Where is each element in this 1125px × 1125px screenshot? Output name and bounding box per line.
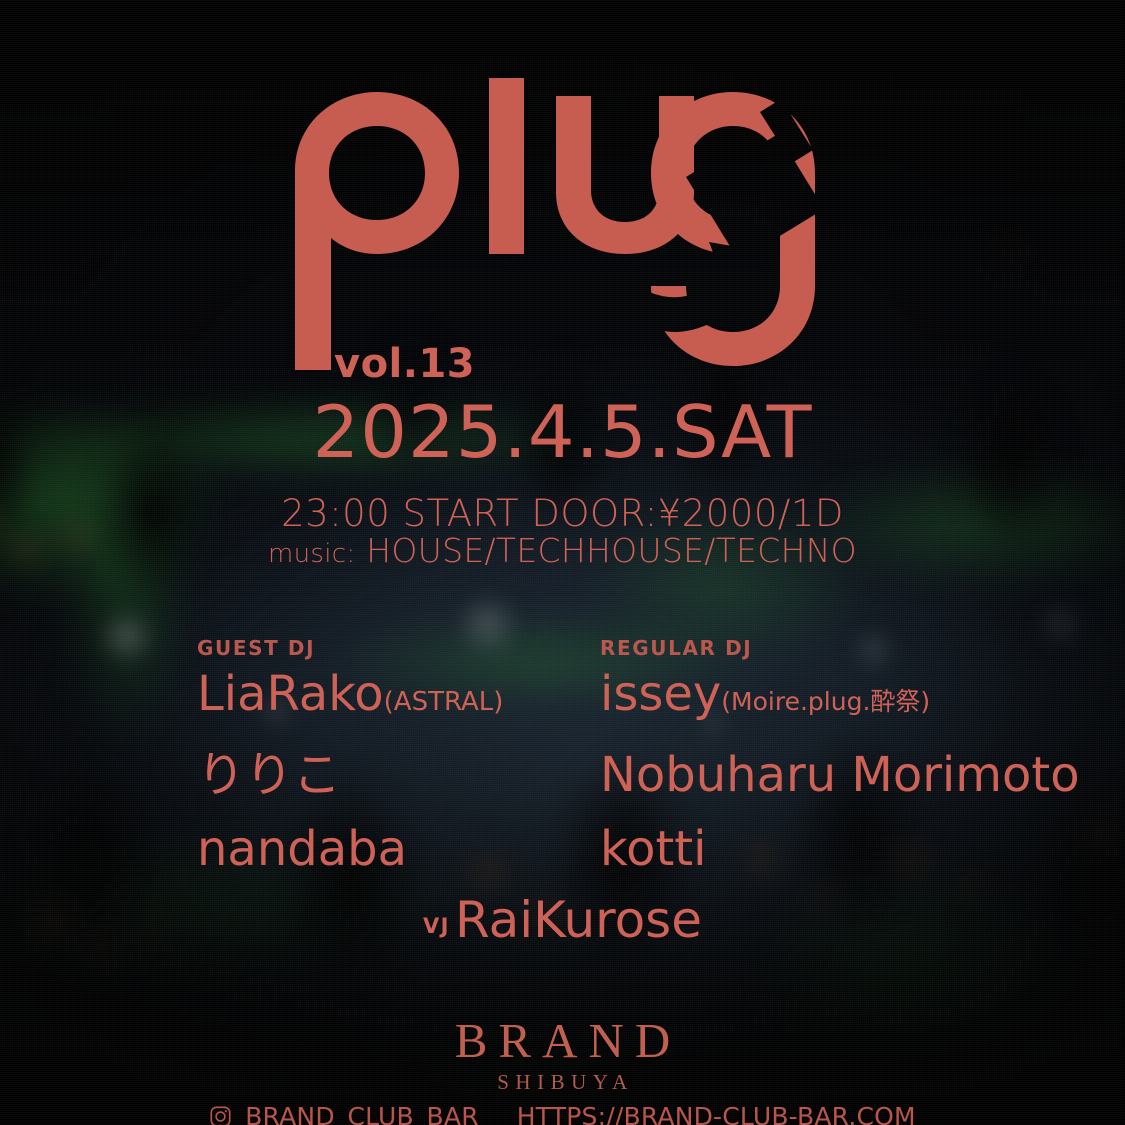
- venue-name: BRAND: [0, 1016, 1125, 1065]
- artist-name: Nobuharu Morimoto: [600, 747, 1080, 803]
- volume-number: vol.13: [334, 341, 475, 387]
- event-flyer: vol.13 2025.4.5.SAT 23:00 START DOOR:¥20…: [0, 0, 1125, 1125]
- list-item: りりこ: [197, 748, 341, 803]
- vj-row: VJ RaiKurose: [0, 895, 1125, 945]
- vj-role-label: VJ: [423, 914, 450, 938]
- artist-name: LiaRako: [197, 666, 384, 722]
- artist-affiliation: (Moire.plug.酔祭): [721, 687, 930, 716]
- list-item: issey(Moire.plug.酔祭): [600, 670, 930, 718]
- venue-footer: BRAND SHIBUYA BRAND_CLUB_BAR HTTPS://BRA…: [0, 1016, 1125, 1125]
- event-date: 2025.4.5.SAT: [0, 396, 1125, 468]
- list-item: LiaRako(ASTRAL): [197, 670, 503, 718]
- artist-name: issey: [600, 666, 721, 722]
- artist-name: nandaba: [197, 821, 407, 877]
- artist-name: りりこ: [197, 747, 341, 803]
- regular-dj-column: REGULAR DJ issey(Moire.plug.酔祭) Nobuharu…: [600, 636, 752, 660]
- guest-dj-column: GUEST DJ LiaRako(ASTRAL) りりこ nandaba: [197, 636, 315, 660]
- artist-affiliation: (ASTRAL): [384, 687, 504, 717]
- list-item: Nobuharu Morimoto: [600, 748, 1080, 803]
- event-music-genres: music: HOUSE/TECHHOUSE/TECHNO: [0, 531, 1125, 570]
- venue-website[interactable]: HTTPS://BRAND-CLUB-BAR.COM: [517, 1104, 916, 1125]
- plug-wordmark-icon: [273, 78, 853, 378]
- music-label: music:: [268, 539, 355, 569]
- list-item: nandaba: [197, 822, 407, 877]
- event-time-price: 23:00 START DOOR:¥2000/1D: [0, 492, 1125, 535]
- venue-location: SHIBUYA: [0, 1070, 1125, 1095]
- venue-contact: BRAND_CLUB_BAR HTTPS://BRAND-CLUB-BAR.CO…: [0, 1104, 1125, 1125]
- list-item: kotti: [600, 822, 706, 877]
- plug-logo: [0, 78, 1125, 378]
- artist-name: kotti: [600, 821, 706, 877]
- regular-dj-role-label: REGULAR DJ: [600, 636, 752, 660]
- music-genres: HOUSE/TECHHOUSE/TECHNO: [366, 531, 857, 570]
- instagram-handle[interactable]: BRAND_CLUB_BAR: [245, 1104, 479, 1125]
- guest-dj-role-label: GUEST DJ: [197, 636, 315, 660]
- vj-name: RaiKurose: [455, 891, 702, 949]
- instagram-icon[interactable]: [209, 1105, 232, 1125]
